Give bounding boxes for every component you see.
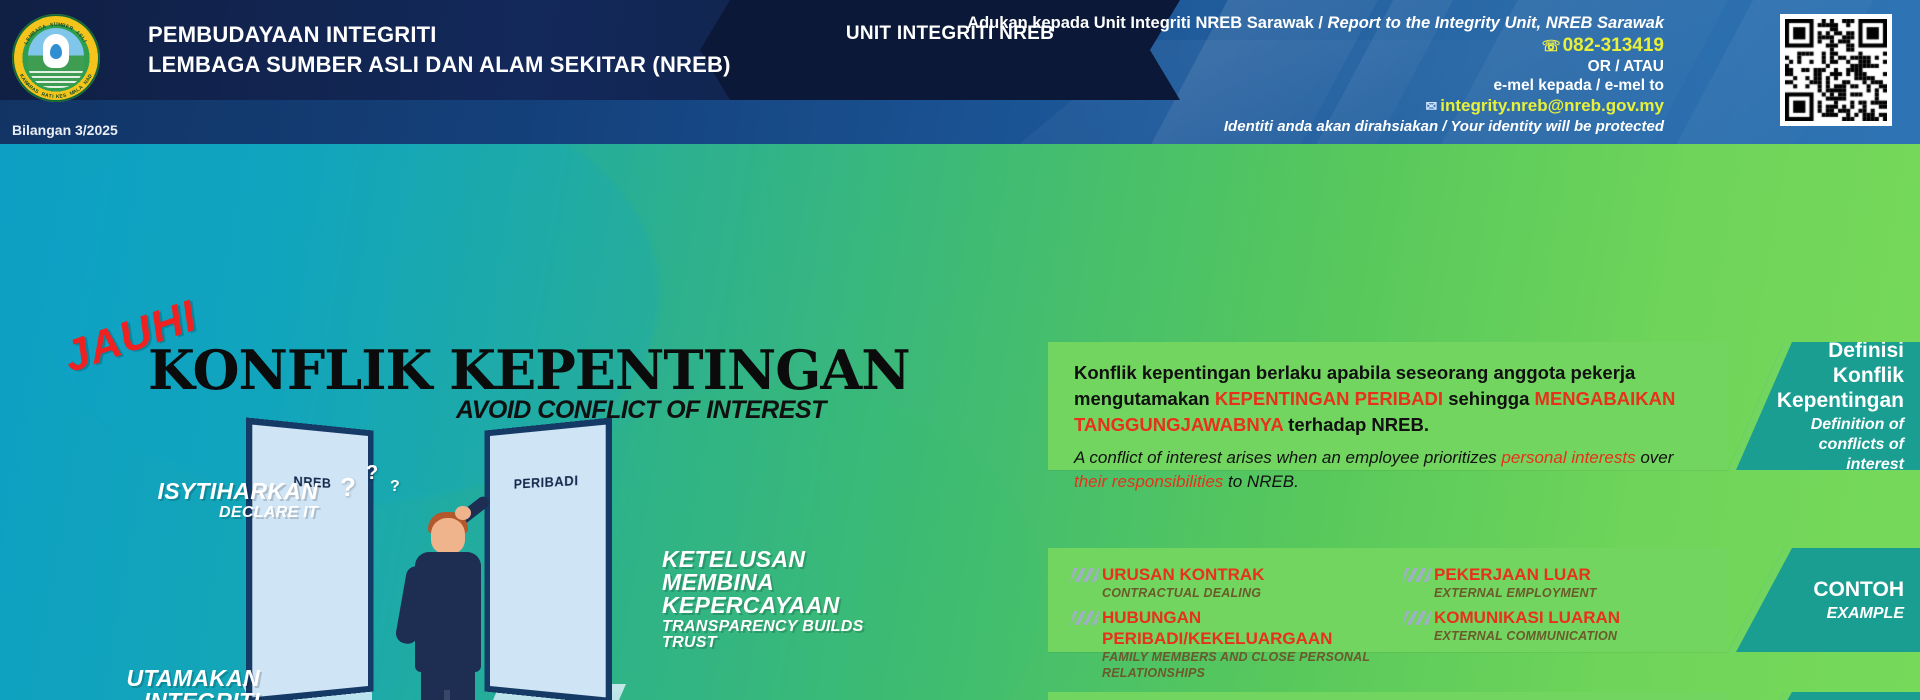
person-illustration: [395, 504, 505, 700]
report-line-en: Report to the Integrity Unit, NREB Saraw…: [1328, 14, 1664, 32]
phone-row[interactable]: ☏082-313419: [924, 35, 1664, 57]
qr-code[interactable]: [1780, 14, 1892, 126]
report-line-my: Adukan kepada Unit Integriti NREB Sarawa…: [967, 14, 1327, 32]
contact-block: Adukan kepada Unit Integriti NREB Sarawa…: [924, 14, 1664, 135]
tab-definition-en: Definition of conflicts of interest: [1798, 415, 1904, 475]
or-atau-label: OR / ATAU: [924, 58, 1664, 76]
org-title-line2: LEMBAGA SUMBER ASLI DAN ALAM SEKITAR (NR…: [148, 50, 731, 80]
hero-title: KONFLIK KEPENTINGAN: [148, 338, 910, 402]
p1-en-part-2: over: [1640, 448, 1673, 467]
poster-body: JAUHI KONFLIK KEPENTINGAN AVOID CONFLICT…: [0, 144, 1920, 700]
label-transparency-my: KETELUSAN MEMBINA KEPERCAYAAN: [662, 548, 922, 617]
example-title-my: HUBUNGAN PERIBADI/KEKELUARGAAN: [1102, 607, 1376, 649]
label-integrity-my: UTAMAKAN INTEGRITI: [32, 667, 260, 700]
envelope-icon: ✉: [1426, 98, 1438, 114]
door-nreb: NREB: [252, 425, 368, 698]
p1-en-part-4: to NREB.: [1228, 472, 1299, 491]
panel-action: Laporkan sebarang kemungkinan konflik ke…: [1048, 692, 1728, 700]
tab-definition-my: Definisi Konflik Kepentingan: [1777, 338, 1904, 413]
label-transparency-en: TRANSPARENCY BUILDS TRUST: [662, 619, 922, 651]
nreb-logo: LEMBAGA SUMBER ASLIDAN ALAM SEKITAR SARA…: [12, 14, 100, 102]
example-text: URUSAN KONTRAKCONTRACTUAL DEALING: [1102, 564, 1264, 601]
example-text: PEKERJAAN LUAREXTERNAL EMPLOYMENT: [1434, 564, 1597, 601]
example-item: URUSAN KONTRAKCONTRACTUAL DEALING: [1072, 564, 1376, 601]
issue-number: Bilangan 3/2025: [12, 122, 118, 138]
report-line: Adukan kepada Unit Integriti NREB Sarawa…: [924, 14, 1664, 33]
tab-example-my: CONTOH: [1813, 577, 1904, 602]
email-label: e-mel kepada / e-mel to: [924, 77, 1664, 95]
example-title-en: EXTERNAL EMPLOYMENT: [1434, 585, 1597, 601]
examples-column-right: PEKERJAAN LUAREXTERNAL EMPLOYMENTKOMUNIK…: [1404, 564, 1708, 687]
door-peribadi: PERIBADI: [490, 425, 606, 698]
example-item: KOMUNIKASI LUARANEXTERNAL COMMUNICATION: [1404, 607, 1708, 644]
example-item: HUBUNGAN PERIBADI/KEKELUARGAANFAMILY MEM…: [1072, 607, 1376, 681]
label-declare-my: ISYTIHARKAN: [108, 480, 318, 503]
example-title-en: CONTRACTUAL DEALING: [1102, 585, 1264, 601]
tab-action: Tindakan Action step: [1728, 692, 1920, 700]
org-title: PEMBUDAYAAN INTEGRITI LEMBAGA SUMBER ASL…: [148, 20, 731, 80]
person-hand: [455, 506, 471, 520]
tab-example-en: EXAMPLE: [1827, 604, 1904, 624]
p1-my-part-2: sehingga: [1448, 388, 1534, 409]
example-text: HUBUNGAN PERIBADI/KEKELUARGAANFAMILY MEM…: [1102, 607, 1376, 681]
example-title-my: URUSAN KONTRAK: [1102, 564, 1264, 585]
panel-examples: URUSAN KONTRAKCONTRACTUAL DEALINGHUBUNGA…: [1048, 548, 1728, 652]
logo-ring-text: DAN ALAM SEKITAR SARAWAK: [12, 14, 100, 102]
example-text: KOMUNIKASI LUARANEXTERNAL COMMUNICATION: [1434, 607, 1620, 644]
page-header: LEMBAGA SUMBER ASLIDAN ALAM SEKITAR SARA…: [0, 0, 1920, 144]
example-title-my: PEKERJAAN LUAR: [1434, 564, 1597, 585]
tab-example: CONTOH EXAMPLE: [1728, 548, 1920, 652]
tab-definition: Definisi Konflik Kepentingan Definition …: [1728, 342, 1920, 470]
question-mark-icon: ?: [340, 472, 356, 503]
person-leg-gap: [444, 690, 450, 700]
question-mark-icon: ?: [366, 462, 378, 485]
slash-bullet-icon: [1402, 568, 1431, 582]
phone-number: 082-313419: [1563, 35, 1664, 56]
person-head: [431, 518, 465, 554]
p1-en-part-1: personal interests: [1501, 448, 1640, 467]
example-title-my: KOMUNIKASI LUARAN: [1434, 607, 1620, 628]
privacy-note: Identiti anda akan dirahsiakan / Your id…: [924, 118, 1664, 135]
example-item: PEKERJAAN LUAREXTERNAL EMPLOYMENT: [1404, 564, 1708, 601]
slash-bullet-icon: [1402, 611, 1431, 625]
definition-text-my: Konflik kepentingan berlaku apabila sese…: [1074, 360, 1702, 438]
p1-my-part-4: terhadap NREB.: [1288, 414, 1429, 435]
label-integrity-first: UTAMAKAN INTEGRITI INTEGRITY FIRST: [32, 667, 260, 700]
email-address: integrity.nreb@nreb.gov.my: [1440, 96, 1664, 115]
p1-en-part-0: A conflict of interest arises when an em…: [1074, 448, 1501, 467]
example-title-en: EXTERNAL COMMUNICATION: [1434, 628, 1620, 644]
examples-column-left: URUSAN KONTRAKCONTRACTUAL DEALINGHUBUNGA…: [1072, 564, 1376, 687]
p1-en-part-3: their responsibilities: [1074, 472, 1228, 491]
hero-subtitle: AVOID CONFLICT OF INTEREST: [456, 396, 826, 425]
org-title-line1: PEMBUDAYAAN INTEGRITI: [148, 20, 731, 50]
definition-text-en: A conflict of interest arises when an em…: [1074, 446, 1702, 494]
phone-icon: ☏: [1542, 38, 1561, 55]
slash-bullet-icon: [1070, 568, 1099, 582]
example-title-en: FAMILY MEMBERS AND CLOSE PERSONAL RELATI…: [1102, 649, 1376, 681]
email-row[interactable]: ✉integrity.nreb@nreb.gov.my: [924, 96, 1664, 116]
question-mark-icon: ?: [390, 478, 400, 496]
label-declare-en: DECLARE IT: [108, 505, 318, 521]
p1-my-part-1: KEPENTINGAN PERIBADI: [1215, 388, 1448, 409]
panel-definition: Konflik kepentingan berlaku apabila sese…: [1048, 342, 1728, 470]
slash-bullet-icon: [1070, 611, 1099, 625]
label-transparency: KETELUSAN MEMBINA KEPERCAYAAN TRANSPAREN…: [662, 548, 922, 651]
door-right-label: PERIBADI: [490, 470, 606, 493]
label-declare-it: ISYTIHARKAN DECLARE IT: [108, 480, 318, 521]
